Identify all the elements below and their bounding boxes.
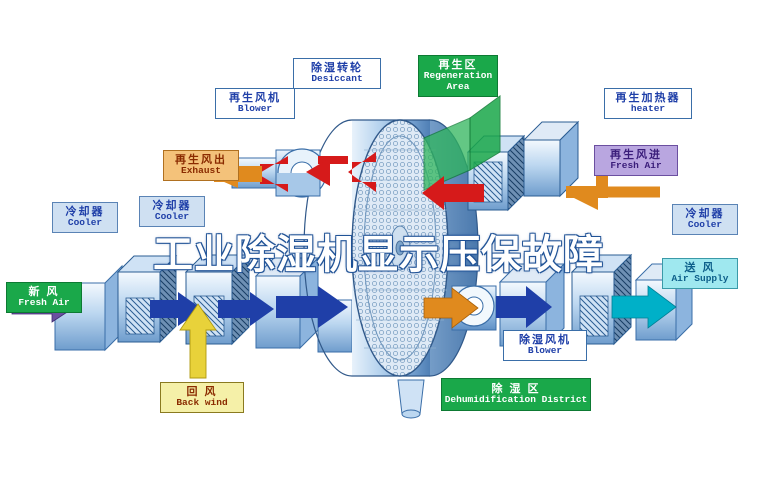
label-dehumid-district: 除 湿 区 Dehumidification District xyxy=(441,378,591,411)
label-en: Back wind xyxy=(163,398,241,409)
label-en: Blower xyxy=(506,346,584,357)
label-regen-intake: 再生风进 Fresh Air xyxy=(594,145,678,176)
label-regen-area: 再生区 Regeneration Area xyxy=(418,55,498,97)
label-fresh-air: 新 风 Fresh Air xyxy=(6,282,82,313)
label-en: Dehumidification District xyxy=(444,395,588,406)
label-en: Cooler xyxy=(675,220,735,231)
label-regen-exhaust: 再生风出 Exhaust xyxy=(163,150,239,181)
label-dehumid-rotor: 除湿转轮 Desiccant xyxy=(293,58,381,89)
diagram-canvas: 除湿转轮 Desiccant 再生风机 Blower 再生区 Regenerat… xyxy=(0,0,757,488)
label-back-wind: 回 风 Back wind xyxy=(160,382,244,413)
label-cooler-left-2: 冷却器 Cooler xyxy=(139,196,205,227)
label-en: Blower xyxy=(218,104,292,115)
label-en: Fresh Air xyxy=(9,298,79,309)
label-en: heater xyxy=(607,104,689,115)
label-cooler-right: 冷却器 Cooler xyxy=(672,204,738,235)
label-en: Cooler xyxy=(142,212,202,223)
label-regen-blower: 再生风机 Blower xyxy=(215,88,295,119)
label-air-supply: 送 风 Air Supply xyxy=(662,258,738,289)
label-en: Air Supply xyxy=(665,274,735,285)
label-dehumid-blower: 除湿风机 Blower xyxy=(503,330,587,361)
label-en: Fresh Air xyxy=(597,161,675,172)
label-en: Regeneration Area xyxy=(421,71,495,92)
label-cooler-left-1: 冷却器 Cooler xyxy=(52,202,118,233)
label-en: Desiccant xyxy=(296,74,378,85)
label-regen-heater: 再生加热器 heater xyxy=(604,88,692,119)
label-en: Cooler xyxy=(55,218,115,229)
label-en: Exhaust xyxy=(166,166,236,177)
